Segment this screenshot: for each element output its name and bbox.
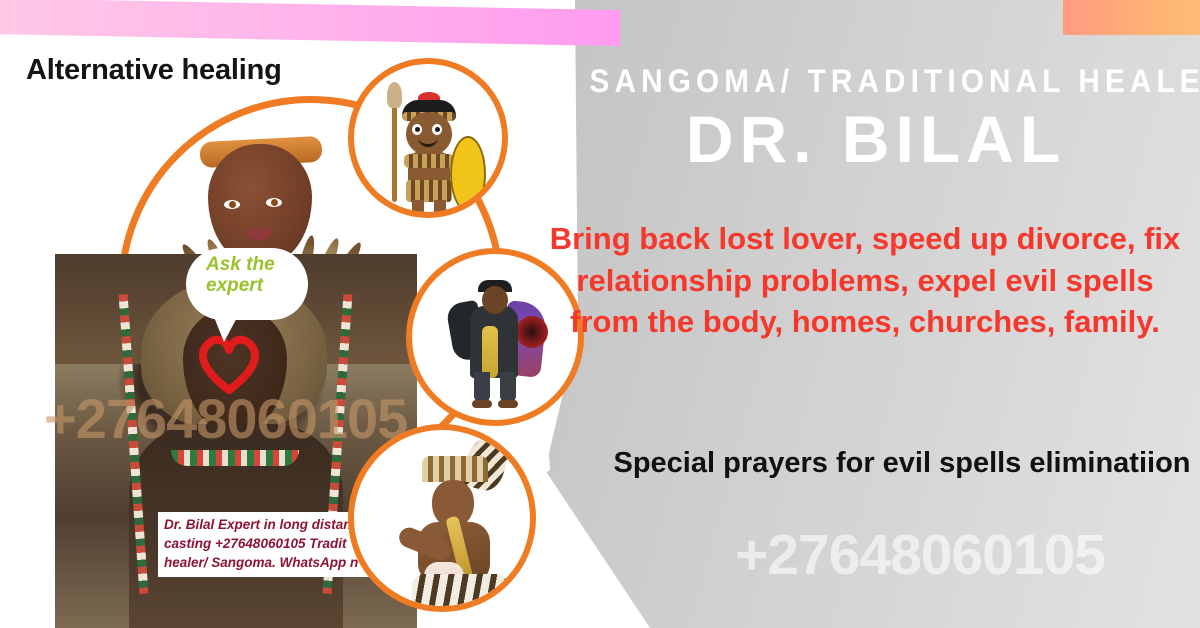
- top-orange-bar: [1063, 0, 1200, 35]
- special-offer-text: Special prayers for evil spells eliminat…: [612, 444, 1192, 482]
- circle-crouching-dancer: [348, 424, 536, 612]
- eyebrow-heading: SANGOMA/ TRADITIONAL HEALER: [590, 63, 1163, 100]
- page-title: Alternative healing: [26, 54, 282, 87]
- circle-zulu-warrior: [348, 58, 508, 218]
- heart-icon: [196, 334, 262, 394]
- poster-canvas: Alternative healing Ask: [0, 0, 1200, 628]
- photo-watermark-phone: +27648060105: [44, 386, 407, 451]
- speech-bubble-label: Ask the expert: [206, 254, 316, 297]
- contact-watermark-phone: +27648060105: [640, 522, 1200, 588]
- services-text: Bring back lost lover, speed up divorce,…: [540, 218, 1190, 343]
- healer-name-title: DR. BILAL: [568, 105, 1184, 174]
